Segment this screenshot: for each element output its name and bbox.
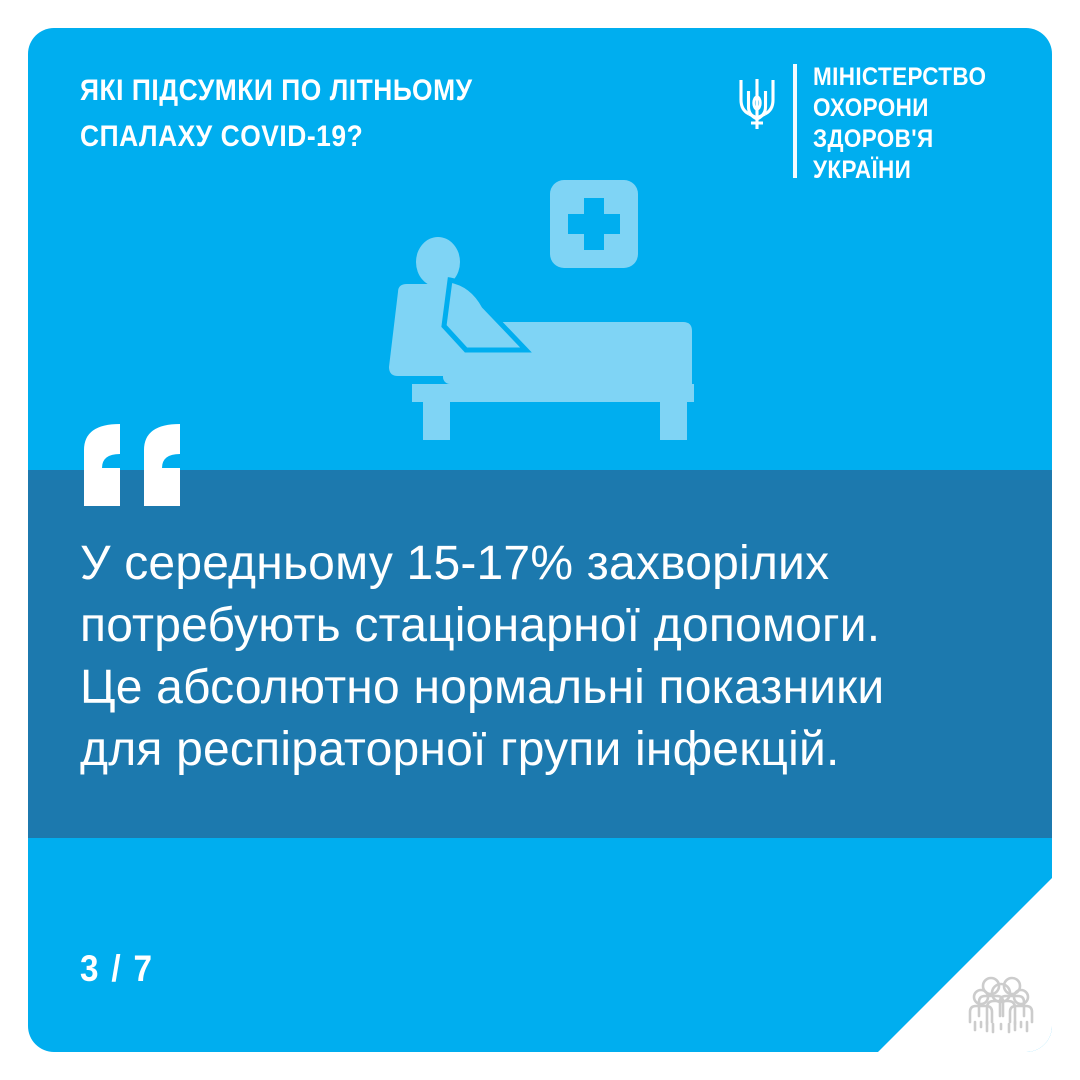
headline-line-1: ЯКІ ПІДСУМКИ ПО ЛІТНЬОМУ <box>80 68 573 114</box>
quote-line-4: для респіраторної групи інфекцій. <box>80 719 990 781</box>
quote-line-1: У середньому 15-17% захворілих <box>80 533 990 595</box>
ministry-name: МІНІСТЕРСТВО ОХОРОНИ ЗДОРОВ'Я УКРАЇНИ <box>813 56 986 186</box>
infographic-card: ЯКІ ПІДСУМКИ ПО ЛІТНЬОМУ СПАЛАХУ COVID-1… <box>28 28 1052 1052</box>
headline-line-2: СПАЛАХУ COVID-19? <box>80 114 573 160</box>
quote-text: У середньому 15-17% захворілих потребуют… <box>80 533 990 781</box>
ministry-line-1: МІНІСТЕРСТВО <box>813 62 986 93</box>
tryzub-coat-of-arms-icon <box>735 74 779 134</box>
quote-line-3: Це абсолютно нормальні показники <box>80 657 990 719</box>
headline: ЯКІ ПІДСУМКИ ПО ЛІТНЬОМУ СПАЛАХУ COVID-1… <box>80 68 573 160</box>
patient-in-hospital-bed-illustration <box>388 170 718 460</box>
ministry-logo: МІНІСТЕРСТВО ОХОРОНИ ЗДОРОВ'Я УКРАЇНИ <box>735 56 1006 186</box>
page-counter: 3 / 7 <box>80 948 154 990</box>
logo-divider <box>793 64 797 178</box>
quotation-mark-icon <box>80 420 200 510</box>
ministry-line-4: УКРАЇНИ <box>813 155 986 186</box>
medical-cross-sign <box>550 180 638 268</box>
hospital-bed <box>389 284 694 440</box>
ministry-line-2: ОХОРОНИ <box>813 93 986 124</box>
group-of-people-icon <box>964 964 1038 1038</box>
quote-line-2: потребують стаціонарної допомоги. <box>80 595 990 657</box>
ministry-line-3: ЗДОРОВ'Я <box>813 124 986 155</box>
